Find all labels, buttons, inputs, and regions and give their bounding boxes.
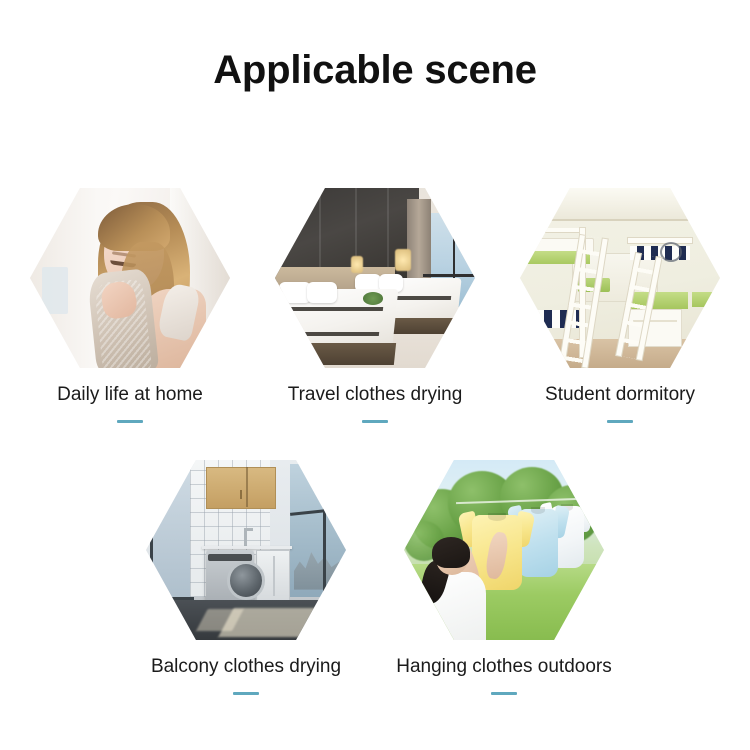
label-underline bbox=[117, 420, 143, 423]
dorm-ceiling bbox=[540, 188, 720, 221]
pillow bbox=[307, 282, 337, 304]
woman-hair bbox=[432, 537, 470, 568]
hex-image-wrap bbox=[275, 188, 475, 368]
scene-card-student-dormitory[interactable]: Student dormitory bbox=[498, 188, 743, 423]
scene-card-daily-life-at-home[interactable]: Daily life at home bbox=[8, 188, 253, 423]
scene-card-label: Student dormitory bbox=[545, 384, 695, 407]
scene-card-label: Travel clothes drying bbox=[288, 384, 463, 407]
balcony-window-left bbox=[150, 464, 194, 601]
wall-decor-ring bbox=[660, 242, 682, 262]
scene-image-balcony-laundry bbox=[146, 460, 346, 640]
label-underline bbox=[362, 420, 388, 423]
decor-plant bbox=[363, 292, 383, 305]
window-mullion-horizontal bbox=[423, 274, 475, 277]
counter-top bbox=[202, 546, 292, 549]
label-underline bbox=[233, 692, 259, 695]
scene-card-label: Balcony clothes drying bbox=[151, 656, 341, 679]
hex-image-wrap bbox=[520, 188, 720, 368]
washing-machine-control-panel bbox=[208, 554, 252, 561]
hexagon-mask bbox=[404, 460, 604, 640]
scene-card-label: Hanging clothes outdoors bbox=[396, 656, 611, 679]
bedside-lamp bbox=[395, 249, 411, 271]
hexagon-mask bbox=[30, 188, 230, 368]
bedside-lamp-secondary bbox=[351, 256, 363, 272]
hotel-bed-first-base bbox=[275, 343, 396, 365]
bed-runner bbox=[279, 332, 379, 336]
scene-image-hotel-room bbox=[275, 188, 475, 368]
bed-runner bbox=[279, 307, 383, 311]
bunk-frame-right bbox=[628, 238, 692, 243]
applicable-scene-page: Applicable scene bbox=[0, 0, 750, 750]
bunk-guard-rail bbox=[524, 228, 584, 232]
scene-image-dormitory bbox=[520, 188, 720, 368]
window-mullion-vertical bbox=[323, 464, 326, 597]
label-underline bbox=[607, 420, 633, 423]
green-mattress-far-right bbox=[692, 292, 720, 306]
hexagon-mask bbox=[520, 188, 720, 368]
scene-card-hanging-clothes-outdoors[interactable]: Hanging clothes outdoors bbox=[375, 460, 633, 695]
scene-row-1: Daily life at home bbox=[0, 188, 750, 423]
wall-panel bbox=[42, 267, 68, 314]
hexagon-mask bbox=[275, 188, 475, 368]
hexagon-mask bbox=[146, 460, 346, 640]
scene-card-balcony-clothes-drying[interactable]: Balcony clothes drying bbox=[117, 460, 375, 695]
cabinet-door-split bbox=[246, 467, 248, 507]
hex-image-wrap bbox=[146, 460, 346, 640]
label-underline bbox=[491, 692, 517, 695]
scene-image-woman-with-towel bbox=[30, 188, 230, 368]
faucet bbox=[244, 528, 247, 546]
hex-image-wrap bbox=[404, 460, 604, 640]
scene-image-outdoor-drying bbox=[404, 460, 604, 640]
scene-row-2: Balcony clothes drying bbox=[0, 460, 750, 695]
upper-wood-cabinet bbox=[206, 467, 276, 509]
page-title: Applicable scene bbox=[0, 48, 750, 92]
scene-card-travel-clothes-drying[interactable]: Travel clothes drying bbox=[253, 188, 498, 423]
hex-image-wrap bbox=[30, 188, 230, 368]
scene-card-label: Daily life at home bbox=[57, 384, 203, 407]
